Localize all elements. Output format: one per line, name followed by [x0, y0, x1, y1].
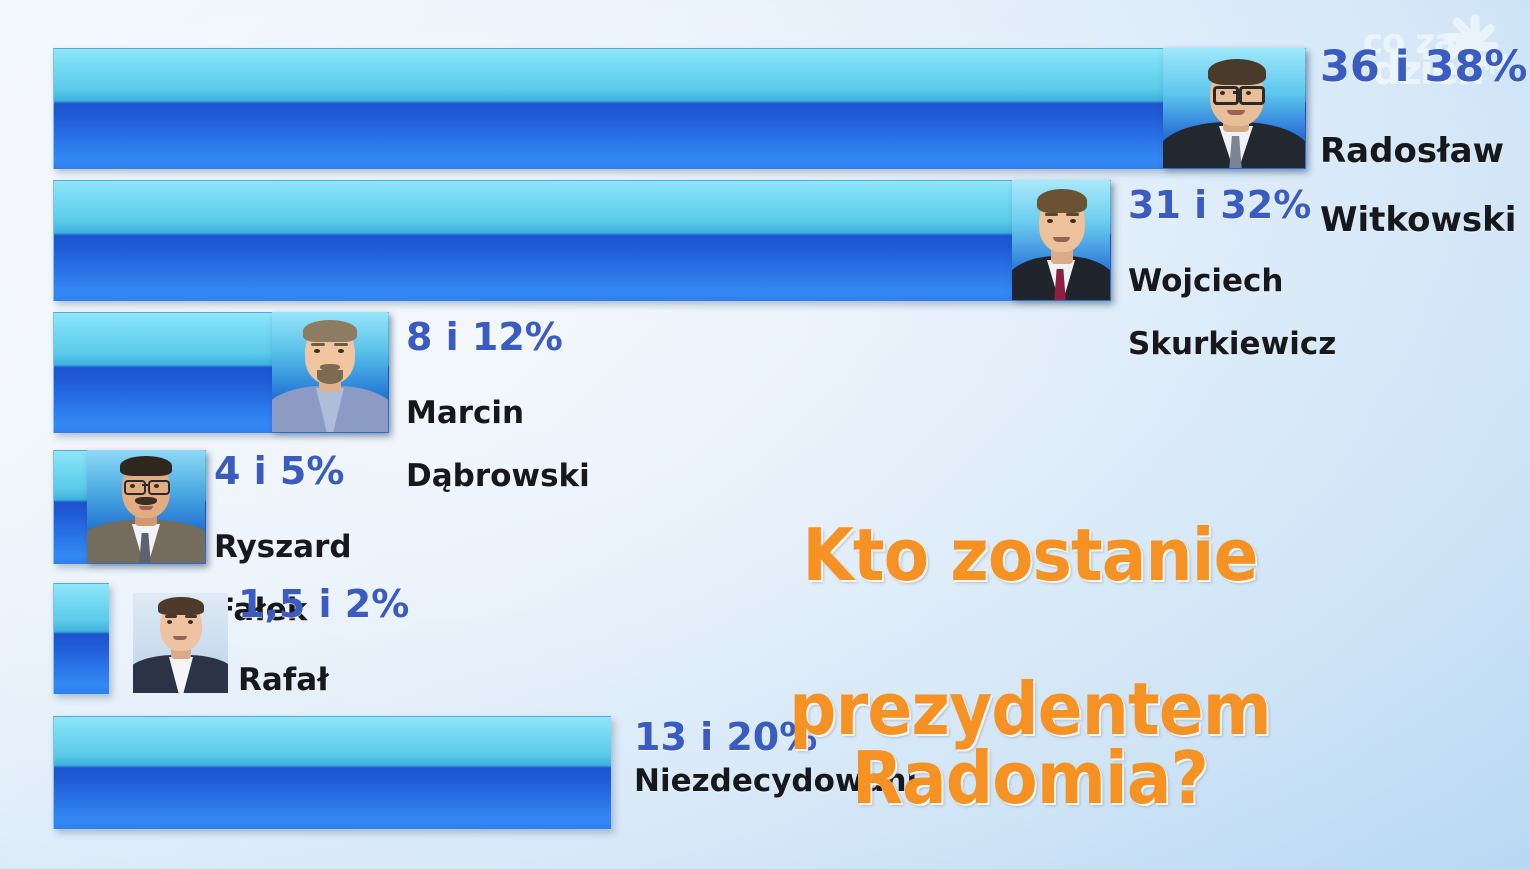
portrait-falek: [87, 450, 205, 563]
percent-czajkowski: 1,5 i 2%: [238, 585, 430, 623]
percent-witkowski: 36 i 38%: [1320, 46, 1527, 89]
percent-skurkiewicz: 31 i 32%: [1128, 186, 1336, 224]
percent-falek: 4 i 5%: [214, 452, 352, 490]
portrait-skurkiewicz: [1012, 180, 1110, 300]
name-dabrowski: Marcin Dąbrowski: [406, 366, 590, 524]
portrait-witkowski: [1163, 48, 1305, 168]
name-witkowski: Radosław Witkowski: [1320, 99, 1527, 272]
percent-dabrowski: 8 i 12%: [406, 318, 590, 356]
name-line-1: Wojciech: [1128, 266, 1336, 298]
name-line-2: Dąbrowski: [406, 461, 590, 493]
name-line-2: Skurkiewicz: [1128, 329, 1336, 361]
name-line-1: Marcin: [406, 398, 590, 430]
name-line-1: Radosław: [1320, 134, 1527, 169]
portrait-dabrowski: [272, 312, 388, 432]
label-skurkiewicz: 31 i 32% Wojciech Skurkiewicz: [1128, 186, 1336, 392]
bar-witkowski: [53, 48, 1306, 169]
bar-skurkiewicz: [53, 180, 1111, 301]
infographic-canvas: co za dzień.pl 36: [0, 0, 1530, 869]
name-line-1: Ryszard: [214, 532, 352, 564]
portrait-czajkowski: [133, 593, 228, 693]
bar-niezdecydowani: [53, 716, 611, 829]
name-line-1: Rafał: [238, 665, 430, 697]
page-title-line-1: Kto zostanie: [625, 521, 1435, 590]
page-title: Kto zostanie prezydentem Radomia?: [625, 452, 1435, 869]
bar-czajkowski: [53, 583, 109, 694]
name-skurkiewicz: Wojciech Skurkiewicz: [1128, 234, 1336, 392]
label-dabrowski: 8 i 12% Marcin Dąbrowski: [406, 318, 590, 524]
page-title-line-2: prezydentem Radomia?: [625, 675, 1435, 813]
name-line-2: Witkowski: [1320, 203, 1527, 238]
label-witkowski: 36 i 38% Radosław Witkowski: [1320, 46, 1527, 272]
